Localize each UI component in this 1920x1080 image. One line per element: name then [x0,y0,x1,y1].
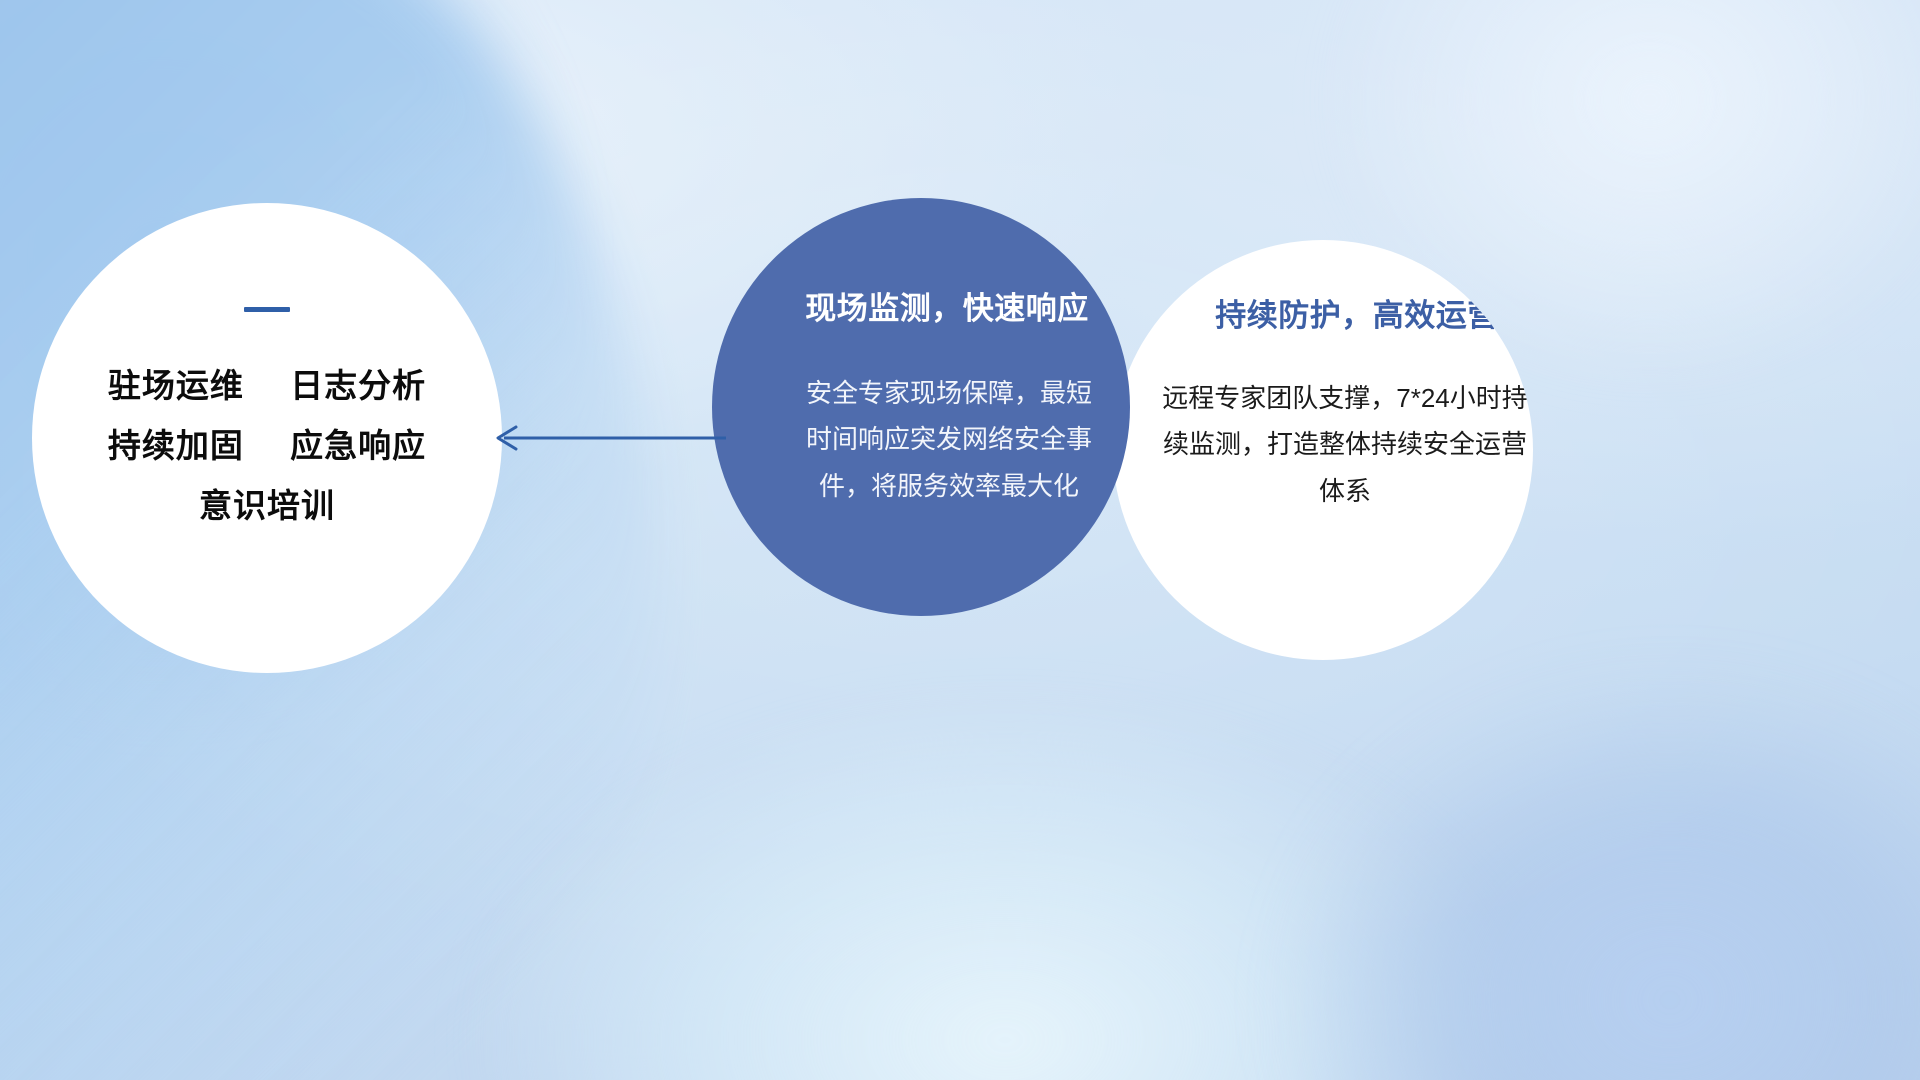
keyword-item: 日志分析 [290,367,426,404]
keyword-item: 驻场运维 [108,367,244,404]
keyword-row: 持续加固 应急响应 [32,416,502,476]
slide-canvas: 驻场运维 日志分析 持续加固 应急响应 意识培训 持续防护，高效运营 远程专家团… [0,0,1920,1080]
arrow-left-icon [490,418,730,458]
keyword-row: 意识培训 [32,476,502,536]
keyword-item: 意识培训 [199,487,335,524]
right-circle-body: 远程专家团队支撑，7*24小时持续监测，打造整体持续安全运营体系 [1159,375,1531,514]
middle-info-circle: 现场监测，快速响应 安全专家现场保障，最短时间响应突发网络安全事件，将服务效率最… [712,198,1130,616]
left-keyword-circle: 驻场运维 日志分析 持续加固 应急响应 意识培训 [32,203,502,673]
accent-dash-icon [244,307,290,312]
keyword-item: 持续加固 [108,427,244,464]
middle-circle-title: 现场监测，快速响应 [805,283,1089,328]
right-circle-title: 持续防护，高效运营 [1215,290,1499,335]
keyword-item: 应急响应 [290,427,426,464]
middle-circle-body: 安全专家现场保障，最短时间响应突发网络安全事件，将服务效率最大化 [799,370,1099,509]
keyword-list: 驻场运维 日志分析 持续加固 应急响应 意识培训 [32,356,502,536]
right-info-circle: 持续防护，高效运营 远程专家团队支撑，7*24小时持续监测，打造整体持续安全运营… [1113,240,1533,660]
keyword-row: 驻场运维 日志分析 [32,356,502,416]
